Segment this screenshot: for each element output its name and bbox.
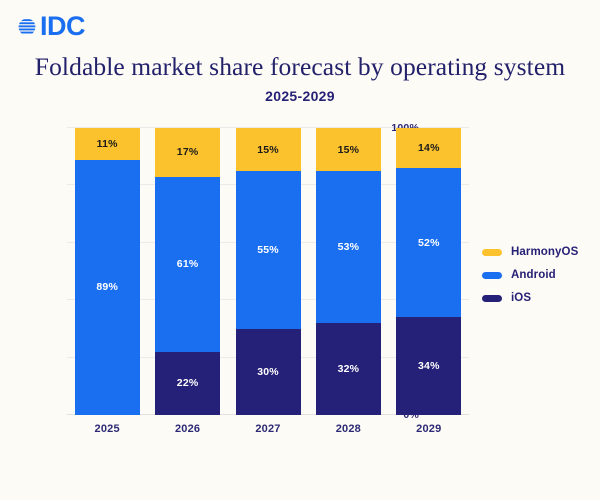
legend-swatch-icon bbox=[482, 295, 502, 302]
bar-segment-android[interactable]: 61% bbox=[155, 177, 220, 352]
bar-segment-android[interactable]: 89% bbox=[75, 160, 140, 415]
globe-stripes-icon bbox=[16, 16, 38, 38]
page-title: Foldable market share forecast by operat… bbox=[0, 52, 600, 82]
legend-swatch-icon bbox=[482, 249, 502, 256]
bar-segment-ios[interactable]: 34% bbox=[396, 317, 461, 415]
bar-2028[interactable]: 15%53%32% bbox=[316, 128, 381, 415]
bar-segment-ios[interactable]: 32% bbox=[316, 323, 381, 415]
bar-segment-harmonyos[interactable]: 17% bbox=[155, 128, 220, 177]
x-axis-tick-label: 2028 bbox=[308, 423, 388, 435]
bar-2026[interactable]: 17%61%22% bbox=[155, 128, 220, 415]
bar-segment-ios[interactable]: 30% bbox=[236, 329, 301, 415]
bar-segment-harmonyos[interactable]: 14% bbox=[396, 128, 461, 168]
bar-segment-harmonyos[interactable]: 11% bbox=[75, 128, 140, 160]
bar-segment-android[interactable]: 52% bbox=[396, 168, 461, 317]
bar-segment-harmonyos[interactable]: 15% bbox=[236, 128, 301, 171]
bar-segment-android[interactable]: 53% bbox=[316, 171, 381, 323]
chart-legend: HarmonyOSAndroidiOS bbox=[482, 246, 578, 304]
legend-item-android[interactable]: Android bbox=[482, 269, 578, 281]
idc-logo: IDC bbox=[16, 13, 85, 40]
bar-2029[interactable]: 14%52%34% bbox=[396, 128, 461, 415]
x-axis-tick-label: 2027 bbox=[228, 423, 308, 435]
legend-item-ios[interactable]: iOS bbox=[482, 292, 578, 304]
x-axis-tick-label: 2026 bbox=[147, 423, 227, 435]
stacked-bar-chart: 0%20%40%60%80%100%11%89%202517%61%22%202… bbox=[24, 128, 469, 428]
legend-item-label: Android bbox=[511, 269, 556, 281]
legend-item-label: HarmonyOS bbox=[511, 246, 578, 258]
plot-area: 0%20%40%60%80%100%11%89%202517%61%22%202… bbox=[67, 128, 469, 415]
bar-segment-harmonyos[interactable]: 15% bbox=[316, 128, 381, 171]
legend-swatch-icon bbox=[482, 272, 502, 279]
bar-segment-android[interactable]: 55% bbox=[236, 171, 301, 329]
x-axis-tick-label: 2025 bbox=[67, 423, 147, 435]
bar-2025[interactable]: 11%89% bbox=[75, 128, 140, 415]
bar-2027[interactable]: 15%55%30% bbox=[236, 128, 301, 415]
legend-item-label: iOS bbox=[511, 292, 531, 304]
bar-segment-ios[interactable]: 22% bbox=[155, 352, 220, 415]
page-subtitle: 2025-2029 bbox=[0, 88, 600, 104]
logo-wordmark: IDC bbox=[40, 13, 85, 40]
legend-item-harmonyos[interactable]: HarmonyOS bbox=[482, 246, 578, 258]
x-axis-tick-label: 2029 bbox=[389, 423, 469, 435]
